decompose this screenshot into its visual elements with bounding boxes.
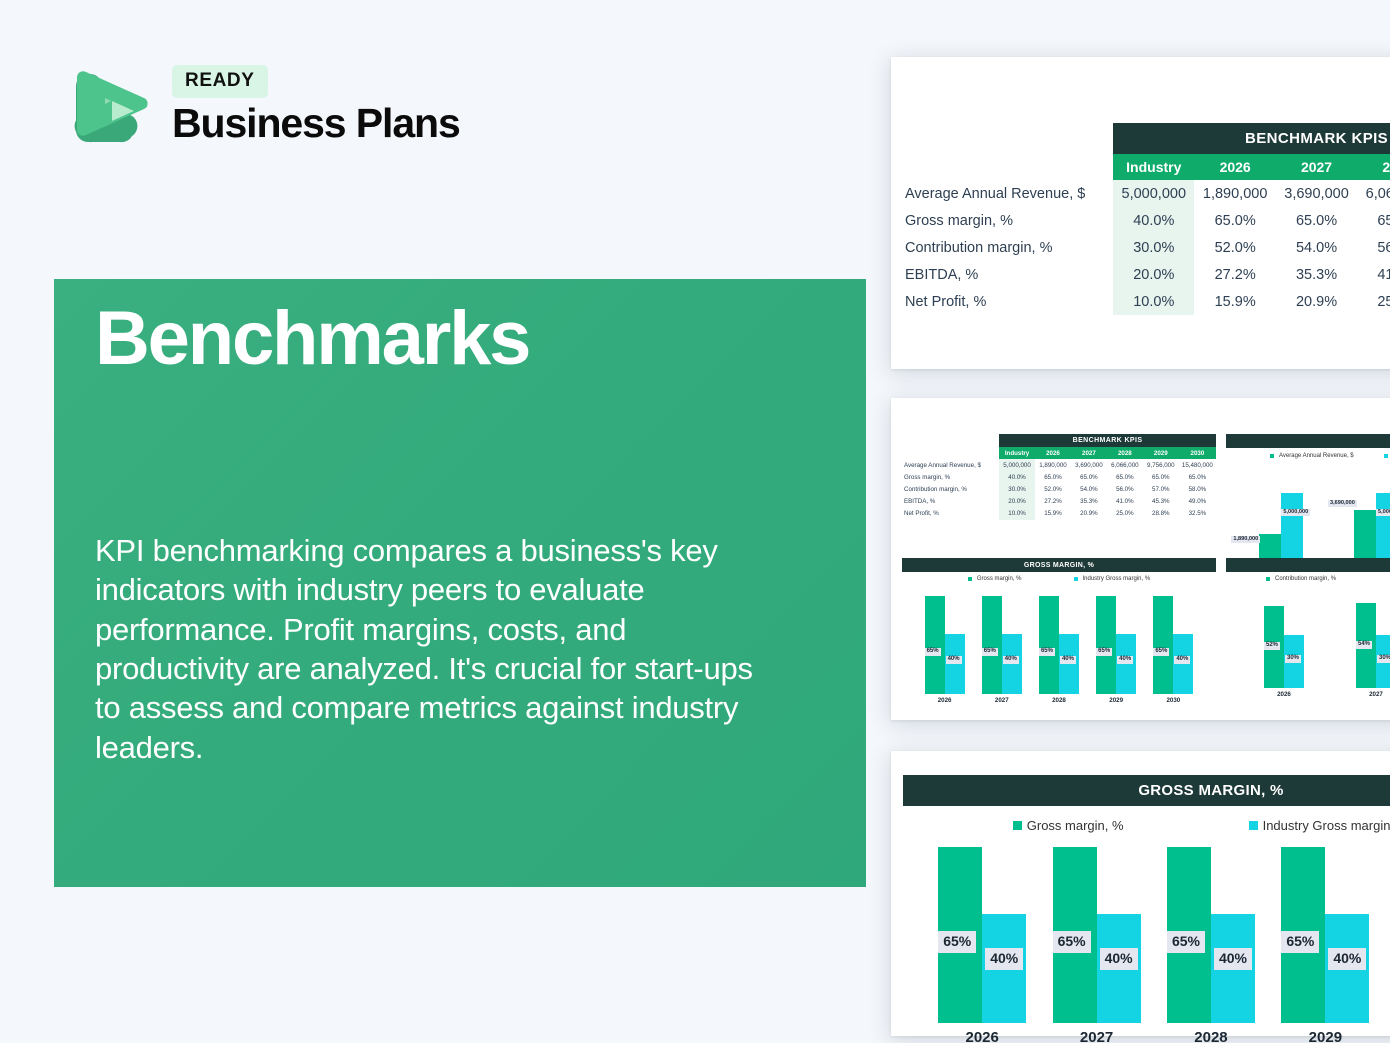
- chart-gross-margin-large: GROSS MARGIN, % Gross margin, % Industry…: [903, 775, 1390, 1043]
- legend-label: Industry Gross margin, %: [1263, 818, 1390, 833]
- cell-2027: 3,690,000: [1071, 459, 1107, 471]
- table-row: EBITDA, % 20.0% 27.2% 35.3% 41.0% 45.3%: [902, 261, 1390, 288]
- cell-2027: 65.0%: [1276, 207, 1357, 234]
- chart-plot-area: 1,890,000 5,000,000 3,690,000 5,000,000 …: [1226, 465, 1390, 559]
- document-gross-margin-chart[interactable]: GROSS MARGIN, % Gross margin, % Industry…: [891, 751, 1390, 1036]
- slide-canvas: READY Business Plans Benchmarks KPI benc…: [0, 0, 1390, 1043]
- legend-label: Average Annual Revenue, $: [1279, 453, 1354, 459]
- legend-swatch-icon: [968, 577, 972, 581]
- bar-group: 65% 40%: [1153, 586, 1193, 694]
- bar-group: 1,890,000 5,000,000: [1259, 465, 1303, 559]
- cell-2028: 25.0%: [1357, 288, 1390, 315]
- cell-2030: 65.0%: [1179, 471, 1216, 483]
- bar-value-label: 65%: [1096, 648, 1112, 656]
- bar-industry-2026: 40%: [945, 634, 965, 694]
- legend-label: Gross margin, %: [977, 576, 1022, 582]
- cell-2028: 65.0%: [1357, 207, 1390, 234]
- cell-2027: 35.3%: [1071, 496, 1107, 508]
- chart-x-axis: 2026 2027 2028 2029 2030: [903, 1029, 1390, 1043]
- cell-2026: 15.9%: [1035, 508, 1071, 520]
- bar-value-label: 65%: [925, 648, 941, 656]
- bar-value-label: 30%: [1285, 655, 1301, 663]
- column-header-industry: Industry: [999, 447, 1035, 459]
- bar-industry-2029: 40%: [1116, 634, 1136, 694]
- benchmark-kpis-table-small: BENCHMARK KPIS Industry 2026 2027 2028 2…: [902, 434, 1216, 520]
- cell-2027: 20.9%: [1071, 508, 1107, 520]
- bar-value-label: 40%: [985, 948, 1023, 970]
- bar-industry-2027: 40%: [1002, 634, 1022, 694]
- cell-2027: 65.0%: [1071, 471, 1107, 483]
- legend-label: Gross margin, %: [1027, 818, 1124, 833]
- bar-gross-2030: 65%: [1153, 596, 1173, 694]
- bar-group: 65% 40%: [1039, 586, 1079, 694]
- bar-industry-2029: 40%: [1325, 914, 1369, 1023]
- bar-value-label: 3,690,000: [1328, 500, 1357, 507]
- legend-swatch-icon: [1074, 577, 1078, 581]
- chart-plot-area: 65% 40% 65% 40% 65% 40% 65% 40% 65% 40: [902, 586, 1216, 694]
- bar-gross-2028: 65%: [1167, 847, 1211, 1023]
- bar-revenue-2027: 3,690,000: [1354, 510, 1376, 559]
- cell-2027: 35.3%: [1276, 261, 1357, 288]
- row-label: Gross margin, %: [902, 207, 1113, 234]
- bar-group: 52% 30%: [1264, 586, 1304, 688]
- cell-2030: 58.0%: [1179, 483, 1216, 495]
- bar-group: 54% 30%: [1356, 586, 1390, 688]
- bar-value-label: 54%: [1356, 641, 1372, 649]
- bar-value-label: 65%: [982, 648, 998, 656]
- bar-gross-2027: 65%: [982, 596, 1002, 694]
- axis-tick: 2030: [1151, 697, 1195, 704]
- chart-average-annual-revenue: AVERAGE ANNUAL REVENUE, $ Average Annual…: [1226, 434, 1390, 569]
- table-header-row: Industry 2026 2027 2028 2029 2030: [902, 447, 1216, 459]
- bar-value-label: 40%: [1117, 656, 1133, 664]
- row-label: Contribution margin, %: [902, 483, 999, 495]
- hero-panel: Benchmarks KPI benchmarking compares a b…: [54, 279, 866, 887]
- bar-value-label: 40%: [1174, 656, 1190, 664]
- bar-revenue-2026: 1,890,000: [1259, 534, 1281, 559]
- column-header-2026: 2026: [1035, 447, 1071, 459]
- legend-swatch-icon: [1013, 821, 1022, 830]
- bar-value-label: 65%: [1281, 931, 1319, 953]
- table-row: Gross margin, % 40.0% 65.0% 65.0% 65.0% …: [902, 471, 1216, 483]
- table-title: BENCHMARK KPIS: [1113, 123, 1390, 154]
- bar-group: 65% 40%: [1281, 847, 1369, 1023]
- chart-title: GROSS MARGIN, %: [902, 558, 1216, 572]
- cell-industry: 40.0%: [999, 471, 1035, 483]
- cell-2026: 65.0%: [1035, 471, 1071, 483]
- chart-title: CONTRIBUTION MARGIN, %: [1226, 558, 1390, 572]
- cell-industry: 20.0%: [999, 496, 1035, 508]
- cell-2026: 27.2%: [1194, 261, 1275, 288]
- bar-contribution-2026: 52%: [1264, 606, 1284, 688]
- bar-industry-2028: 40%: [1211, 914, 1255, 1023]
- cell-industry: 10.0%: [1113, 288, 1194, 315]
- cell-2027: 54.0%: [1071, 483, 1107, 495]
- bar-group: 65% 40%: [1167, 847, 1255, 1023]
- table-row: Contribution margin, % 30.0% 52.0% 54.0%…: [902, 483, 1216, 495]
- chart-plot-area: 52% 30% 54% 30% 56% 30%: [1226, 586, 1390, 688]
- cell-industry: 40.0%: [1113, 207, 1194, 234]
- cell-2030: 49.0%: [1179, 496, 1216, 508]
- cell-2026: 65.0%: [1194, 207, 1275, 234]
- cell-2027: 54.0%: [1276, 234, 1357, 261]
- column-header-2029: 2029: [1143, 447, 1179, 459]
- table-row: Net Profit, % 10.0% 15.9% 20.9% 25.0% 28…: [902, 288, 1390, 315]
- column-header-2027: 2027: [1071, 447, 1107, 459]
- bar-value-label: 40%: [1214, 948, 1252, 970]
- bar-value-label: 1,890,000: [1231, 536, 1260, 543]
- cell-2029: 45.3%: [1143, 496, 1179, 508]
- bar-value-label: 65%: [1167, 931, 1205, 953]
- bar-gross-2027: 65%: [1053, 847, 1097, 1023]
- bar-value-label: 40%: [1328, 948, 1366, 970]
- bar-value-label: 52%: [1264, 642, 1280, 650]
- bar-industry-2030: 40%: [1173, 634, 1193, 694]
- document-kpi-table[interactable]: BENCHMARK KPIS Industry 2026 2027 2028 2…: [891, 57, 1390, 369]
- bar-value-label: 40%: [1100, 948, 1138, 970]
- cell-2027: 3,690,000: [1276, 180, 1357, 207]
- table-title: BENCHMARK KPIS: [999, 434, 1216, 447]
- bar-industry-2027: 30%: [1376, 635, 1390, 688]
- chart-title: AVERAGE ANNUAL REVENUE, $: [1226, 434, 1390, 448]
- legend-swatch-icon: [1270, 454, 1274, 458]
- bar-value-label: 65%: [1039, 648, 1055, 656]
- cell-2028: 6,066,000: [1357, 180, 1390, 207]
- axis-tick: 2028: [1163, 1029, 1259, 1043]
- table-row: EBITDA, % 20.0% 27.2% 35.3% 41.0% 45.3% …: [902, 496, 1216, 508]
- bar-value-label: 30%: [1377, 655, 1390, 663]
- row-label: Gross margin, %: [902, 471, 999, 483]
- bar-industry-2027: 5,000,000: [1376, 493, 1390, 559]
- bar-group: 3,690,000 5,000,000: [1354, 465, 1390, 559]
- column-header-2030: 2030: [1179, 447, 1216, 459]
- bar-industry-2026: 5,000,000: [1281, 493, 1303, 559]
- wordmark: Business Plans: [172, 103, 460, 144]
- bar-value-label: 40%: [946, 656, 962, 664]
- axis-tick: 2028: [1037, 697, 1081, 704]
- cell-industry: 20.0%: [1113, 261, 1194, 288]
- column-header-2028: 2028: [1107, 447, 1143, 459]
- cell-2026: 1,890,000: [1194, 180, 1275, 207]
- bar-value-label: 65%: [1053, 931, 1091, 953]
- bar-gross-2026: 65%: [938, 847, 982, 1023]
- cell-2027: 20.9%: [1276, 288, 1357, 315]
- axis-tick: 2026: [923, 697, 967, 704]
- bar-value-label: 65%: [938, 931, 976, 953]
- cell-2028: 56.0%: [1107, 483, 1143, 495]
- table-row: Net Profit, % 10.0% 15.9% 20.9% 25.0% 28…: [902, 508, 1216, 520]
- chart-plot-area: 65% 40% 65% 40% 65% 40% 65% 40% 65% 40: [903, 847, 1390, 1023]
- legend-label: Contribution margin, %: [1275, 576, 1336, 582]
- chart-legend: Contribution margin, %: [1226, 576, 1390, 582]
- bar-value-label: 40%: [1060, 656, 1076, 664]
- chart-legend: Gross margin, % Industry Gross margin, %: [902, 576, 1216, 582]
- bar-industry-2026: 30%: [1284, 635, 1304, 688]
- row-label: EBITDA, %: [902, 496, 999, 508]
- chart-contribution-margin: CONTRIBUTION MARGIN, % Contribution marg…: [1226, 558, 1390, 698]
- cell-2028: 25.0%: [1107, 508, 1143, 520]
- legend-swatch-icon: [1384, 454, 1388, 458]
- bar-value-label: 65%: [1153, 648, 1169, 656]
- column-header-2026: 2026: [1194, 154, 1275, 180]
- cell-industry: 30.0%: [999, 483, 1035, 495]
- cell-2029: 28.8%: [1143, 508, 1179, 520]
- cell-2026: 1,890,000: [1035, 459, 1071, 471]
- cell-industry: 10.0%: [999, 508, 1035, 520]
- cell-2026: 52.0%: [1035, 483, 1071, 495]
- bar-group: 65% 40%: [938, 847, 1026, 1023]
- column-header-2027: 2027: [1276, 154, 1357, 180]
- cell-2030: 15,480,000: [1179, 459, 1216, 471]
- chart-legend: Average Annual Revenue, $ Industry Avera…: [1226, 453, 1390, 459]
- bar-gross-2029: 65%: [1096, 596, 1116, 694]
- cell-2028: 41.0%: [1107, 496, 1143, 508]
- play-triangle-logo-icon: [58, 52, 154, 152]
- chart-legend: Gross margin, % Industry Gross margin, %: [903, 818, 1390, 833]
- bar-group: 65% 40%: [1096, 586, 1136, 694]
- axis-tick: 2026: [1261, 691, 1307, 698]
- cell-2028: 6,066,000: [1107, 459, 1143, 471]
- axis-tick: 2029: [1277, 1029, 1373, 1043]
- chart-x-axis: 2026 2027 2028 2029 2030: [902, 697, 1216, 704]
- bar-industry-2026: 40%: [982, 914, 1026, 1023]
- brand-logo: READY Business Plans: [58, 52, 460, 152]
- row-label: Net Profit, %: [902, 508, 999, 520]
- bar-gross-2029: 65%: [1281, 847, 1325, 1023]
- chart-gross-margin-small: GROSS MARGIN, % Gross margin, % Industry…: [902, 558, 1216, 704]
- page-title: Benchmarks: [95, 301, 529, 377]
- cell-industry: 5,000,000: [1113, 180, 1194, 207]
- cell-industry: 5,000,000: [999, 459, 1035, 471]
- row-label: Average Annual Revenue, $: [902, 459, 999, 471]
- legend-label: Industry Gross margin, %: [1083, 576, 1151, 582]
- cell-2029: 65.0%: [1143, 471, 1179, 483]
- bar-gross-2028: 65%: [1039, 596, 1059, 694]
- bar-group: 65% 40%: [982, 586, 1022, 694]
- bar-value-label: 5,000,000: [1376, 509, 1390, 516]
- document-dashboard[interactable]: BENCHMARK KPIS Industry 2026 2027 2028 2…: [891, 398, 1390, 720]
- axis-tick: 2026: [934, 1029, 1030, 1043]
- bar-industry-2027: 40%: [1097, 914, 1141, 1023]
- cell-2026: 52.0%: [1194, 234, 1275, 261]
- column-header-industry: Industry: [1113, 154, 1194, 180]
- legend-swatch-icon: [1249, 821, 1258, 830]
- cell-2028: 65.0%: [1107, 471, 1143, 483]
- axis-tick: 2027: [1353, 691, 1390, 698]
- table-row: Average Annual Revenue, $ 5,000,000 1,89…: [902, 459, 1216, 471]
- table-header-row: Industry 2026 2027 2028 2029: [902, 154, 1390, 180]
- chart-title: GROSS MARGIN, %: [903, 775, 1390, 806]
- cell-2029: 57.0%: [1143, 483, 1179, 495]
- row-label: Net Profit, %: [902, 288, 1113, 315]
- chart-x-axis: 2026 2027 2028: [1226, 691, 1390, 698]
- row-label: Contribution margin, %: [902, 234, 1113, 261]
- brand-text: READY Business Plans: [172, 61, 460, 144]
- ready-badge: READY: [172, 65, 268, 98]
- cell-2028: 41.0%: [1357, 261, 1390, 288]
- page-description: KPI benchmarking compares a business's k…: [95, 531, 760, 767]
- axis-tick: 2027: [1049, 1029, 1145, 1043]
- bar-contribution-2027: 54%: [1356, 603, 1376, 688]
- row-label: Average Annual Revenue, $: [902, 180, 1113, 207]
- cell-2026: 27.2%: [1035, 496, 1071, 508]
- cell-2029: 9,756,000: [1143, 459, 1179, 471]
- cell-2028: 56.0%: [1357, 234, 1390, 261]
- cell-industry: 30.0%: [1113, 234, 1194, 261]
- bar-group: 65% 40%: [1053, 847, 1141, 1023]
- benchmark-kpis-table: BENCHMARK KPIS Industry 2026 2027 2028 2…: [902, 123, 1390, 315]
- column-header-2028: 2028: [1357, 154, 1390, 180]
- legend-swatch-icon: [1266, 577, 1270, 581]
- bar-value-label: 5,000,000: [1281, 509, 1310, 516]
- table-row: Contribution margin, % 30.0% 52.0% 54.0%…: [902, 234, 1390, 261]
- cell-2030: 32.5%: [1179, 508, 1216, 520]
- row-label: EBITDA, %: [902, 261, 1113, 288]
- axis-tick: 2027: [980, 697, 1024, 704]
- table-row: Gross margin, % 40.0% 65.0% 65.0% 65.0% …: [902, 207, 1390, 234]
- bar-gross-2026: 65%: [925, 596, 945, 694]
- table-row: Average Annual Revenue, $ 5,000,000 1,89…: [902, 180, 1390, 207]
- bar-value-label: 40%: [1003, 656, 1019, 664]
- bar-group: 65% 40%: [925, 586, 965, 694]
- axis-tick: 2029: [1094, 697, 1138, 704]
- cell-2026: 15.9%: [1194, 288, 1275, 315]
- bar-industry-2028: 40%: [1059, 634, 1079, 694]
